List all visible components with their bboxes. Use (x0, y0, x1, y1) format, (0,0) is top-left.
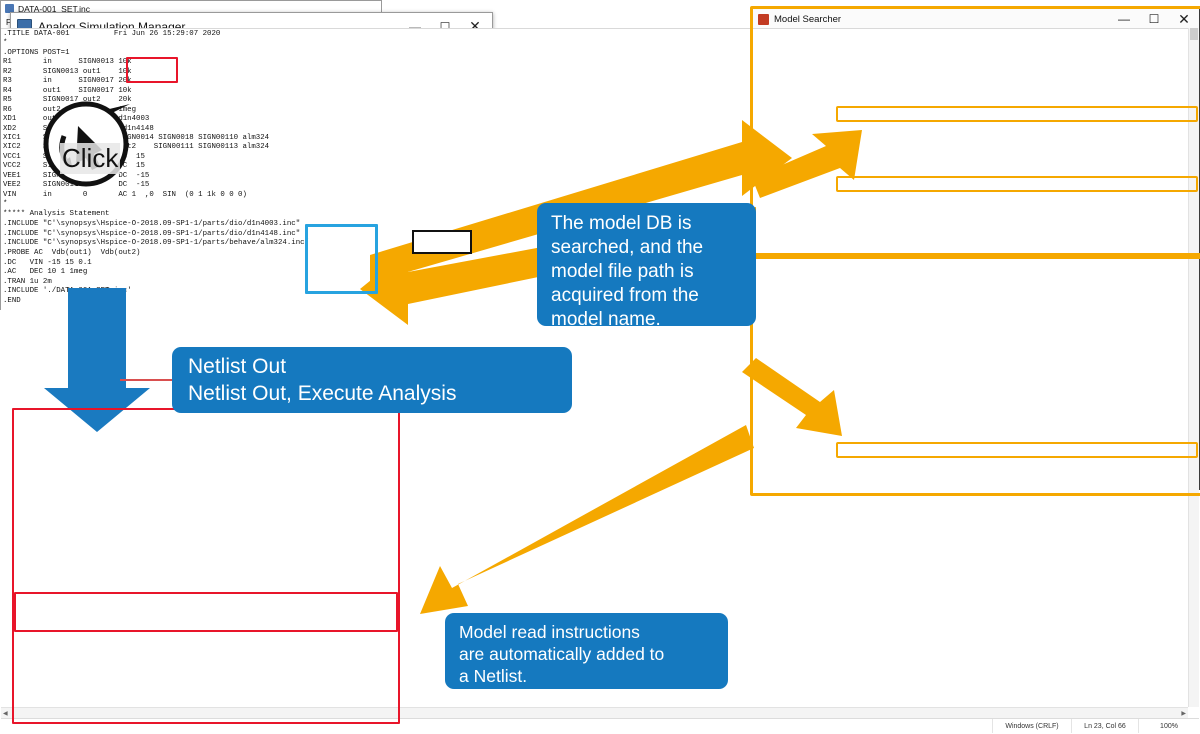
callout-model-read: Model read instructions are automaticall… (445, 613, 728, 689)
callout-line: model file path is (551, 260, 742, 284)
blank-annotation-box (412, 230, 472, 254)
row-highlight-d1n4148 (836, 176, 1198, 192)
callout-line: are automatically added to (459, 643, 714, 665)
callout-netlist-out: Netlist Out Netlist Out, Execute Analysi… (172, 347, 572, 413)
row-highlight-d1n4003 (836, 106, 1198, 122)
callout-line: a Netlist. (459, 665, 714, 687)
callout-line: Model read instructions (459, 621, 714, 643)
callout-line: acquired from the (551, 284, 742, 308)
netlist-window-highlight-box (12, 408, 400, 724)
searcher1-frame (750, 6, 1200, 259)
status-cursor-position: Ln 23, Col 66 (1071, 719, 1138, 733)
row-highlight-alm324 (836, 442, 1198, 458)
searcher2-frame (750, 253, 1200, 496)
scroll-right-icon[interactable]: ▶ (1181, 710, 1186, 717)
model-column-highlight-box (305, 224, 378, 294)
callout-line-underlined: model name. (551, 308, 742, 332)
toolbar-highlight-box (126, 57, 178, 83)
callout-line: The model DB is (551, 212, 742, 236)
include-statements-highlight-box (14, 592, 398, 632)
callout-line: searched, and the (551, 236, 742, 260)
callout-line: Netlist Out, Execute Analysis (188, 380, 556, 407)
status-zoom: 100% (1138, 719, 1199, 733)
scroll-left-icon[interactable]: ◀ (3, 710, 8, 717)
status-encoding: Windows (CRLF) (992, 719, 1071, 733)
click-label: Click (60, 143, 120, 174)
callout-line: Netlist Out (188, 353, 556, 380)
callout-model-db: The model DB is searched, and the model … (537, 203, 756, 326)
